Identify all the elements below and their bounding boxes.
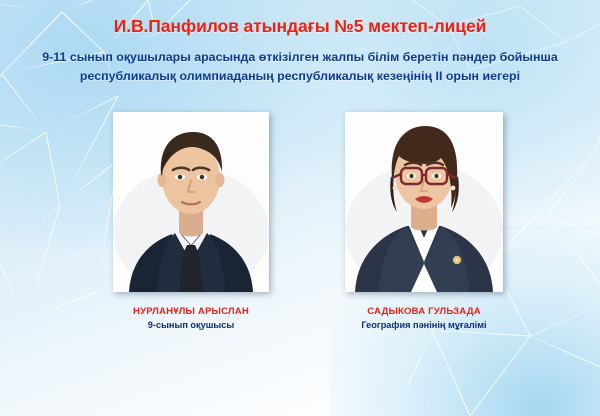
- student-role: 9-сынып оқушысы: [113, 320, 269, 330]
- subtitle-line-1: 9-11 сынып оқушылары арасында өткізілген…: [0, 37, 600, 67]
- person-card-teacher: САДЫКОВА ГУЛЬЗАДА География пәнінің мұға…: [345, 112, 503, 330]
- teacher-caption: САДЫКОВА ГУЛЬЗАДА География пәнінің мұға…: [345, 306, 503, 330]
- teacher-role: География пәнінің мұғалімі: [345, 320, 503, 330]
- subtitle-line-2: республикалық олимпиаданың республикалық…: [0, 67, 600, 86]
- page-title: И.В.Панфилов атындағы №5 мектеп-лицей: [0, 0, 600, 37]
- award-announcement-slide: И.В.Панфилов атындағы №5 мектеп-лицей 9-…: [0, 0, 600, 416]
- person-card-student: НУРЛАНҰЛЫ АРЫСЛАН 9-сынып оқушысы: [113, 112, 269, 330]
- teacher-photo: [345, 112, 503, 292]
- student-caption: НУРЛАНҰЛЫ АРЫСЛАН 9-сынып оқушысы: [113, 306, 269, 330]
- teacher-name: САДЫКОВА ГУЛЬЗАДА: [345, 306, 503, 317]
- slide-header: И.В.Панфилов атындағы №5 мектеп-лицей 9-…: [0, 0, 600, 86]
- student-name: НУРЛАНҰЛЫ АРЫСЛАН: [113, 306, 269, 317]
- student-photo: [113, 112, 269, 292]
